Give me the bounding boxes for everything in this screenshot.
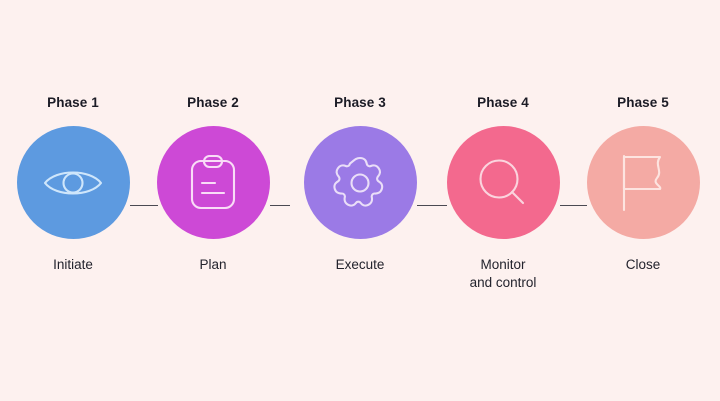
diagram-canvas: Phase 1 Initiate Phase 2 bbox=[0, 0, 720, 401]
phase-circle-1[interactable] bbox=[17, 126, 130, 239]
eye-icon bbox=[42, 163, 104, 203]
phase-item-3[interactable]: Phase 3 Execute bbox=[290, 95, 430, 274]
phase-title-4: Phase 4 bbox=[477, 95, 529, 111]
phase-title-2: Phase 2 bbox=[187, 95, 239, 111]
phase-title-5: Phase 5 bbox=[617, 95, 669, 111]
phase-title-1: Phase 1 bbox=[47, 95, 99, 111]
phase-title-3: Phase 3 bbox=[334, 95, 386, 111]
phase-label-3: Execute bbox=[336, 256, 385, 274]
flag-icon bbox=[616, 152, 670, 214]
magnifier-icon bbox=[474, 154, 532, 212]
phase-item-5[interactable]: Phase 5 Close bbox=[573, 95, 713, 274]
phase-label-5: Close bbox=[626, 256, 661, 274]
phase-circle-2[interactable] bbox=[157, 126, 270, 239]
phase-label-1: Initiate bbox=[53, 256, 93, 274]
gear-icon bbox=[331, 154, 389, 212]
phase-circle-4[interactable] bbox=[447, 126, 560, 239]
phase-item-2[interactable]: Phase 2 Plan bbox=[143, 95, 283, 274]
phase-circle-5[interactable] bbox=[587, 126, 700, 239]
phase-circle-3[interactable] bbox=[304, 126, 417, 239]
clipboard-icon bbox=[187, 153, 239, 213]
phase-label-2: Plan bbox=[199, 256, 226, 274]
phase-item-1[interactable]: Phase 1 Initiate bbox=[3, 95, 143, 274]
phase-item-4[interactable]: Phase 4 Monitor and control bbox=[433, 95, 573, 292]
phase-label-4: Monitor and control bbox=[470, 256, 537, 292]
phase-row: Phase 1 Initiate Phase 2 bbox=[0, 0, 720, 401]
